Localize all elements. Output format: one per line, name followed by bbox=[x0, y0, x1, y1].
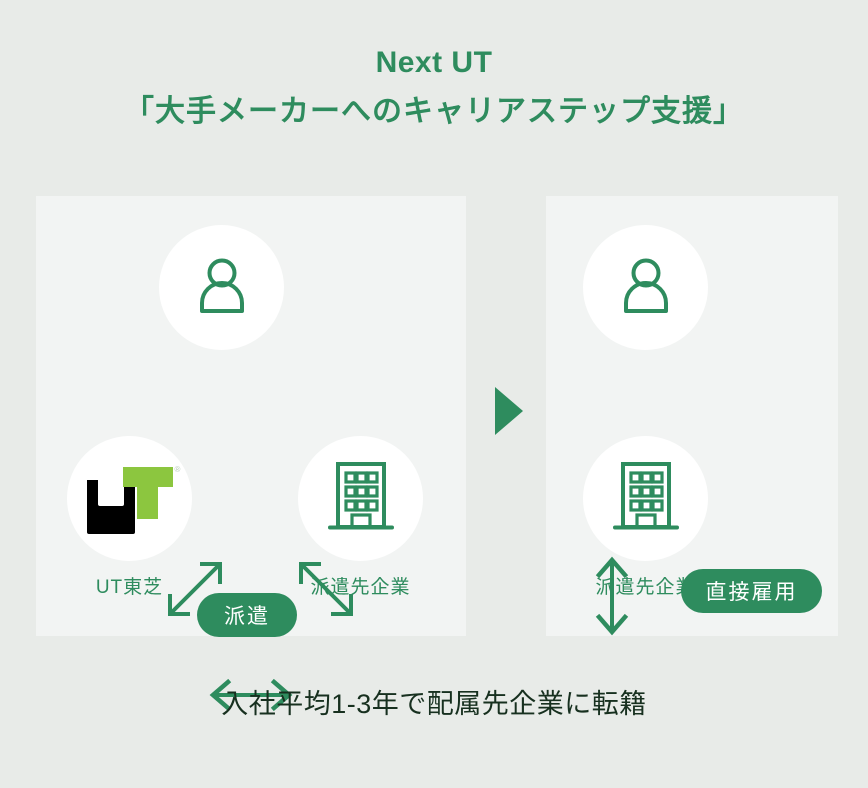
caption-part-2: 配属先企業に転籍 bbox=[427, 689, 647, 719]
caption-part-1: 入社平均1-3年で bbox=[221, 689, 427, 719]
registered-trademark-icon: ® bbox=[175, 466, 181, 474]
left-diagram-panel: ® UT東芝 派遣先企業 bbox=[36, 196, 466, 636]
left-client-building-circle bbox=[298, 436, 423, 561]
page-title: Next UT 「大手メーカーへのキャリアステップ支援」 bbox=[0, 44, 868, 131]
ut-logo-circle: ® bbox=[67, 436, 192, 561]
double-vertical-arrow bbox=[595, 554, 629, 643]
ut-logo-u-notch bbox=[98, 464, 124, 506]
right-person-circle bbox=[583, 225, 708, 350]
right-diagram-panel: 派遣先企業 直接雇用 bbox=[546, 196, 838, 636]
left-person-circle bbox=[159, 225, 284, 350]
dispatch-relation-badge: 派遣 bbox=[197, 593, 297, 637]
title-line-secondary: 「大手メーカーへのキャリアステップ支援」 bbox=[0, 92, 868, 131]
ut-logo-t-stem bbox=[137, 467, 158, 519]
bottom-caption: 入社平均1-3年で配属先企業に転籍 bbox=[0, 682, 868, 721]
direct-employment-badge: 直接雇用 bbox=[681, 569, 822, 613]
double-diagonal-arrow-right bbox=[295, 558, 357, 625]
right-client-building-circle bbox=[583, 436, 708, 561]
title-line-primary: Next UT bbox=[0, 44, 868, 82]
person-icon bbox=[190, 253, 254, 322]
ut-logo-icon: ® bbox=[87, 464, 173, 534]
building-icon bbox=[325, 459, 397, 538]
building-icon bbox=[610, 459, 682, 538]
person-icon bbox=[614, 253, 678, 322]
